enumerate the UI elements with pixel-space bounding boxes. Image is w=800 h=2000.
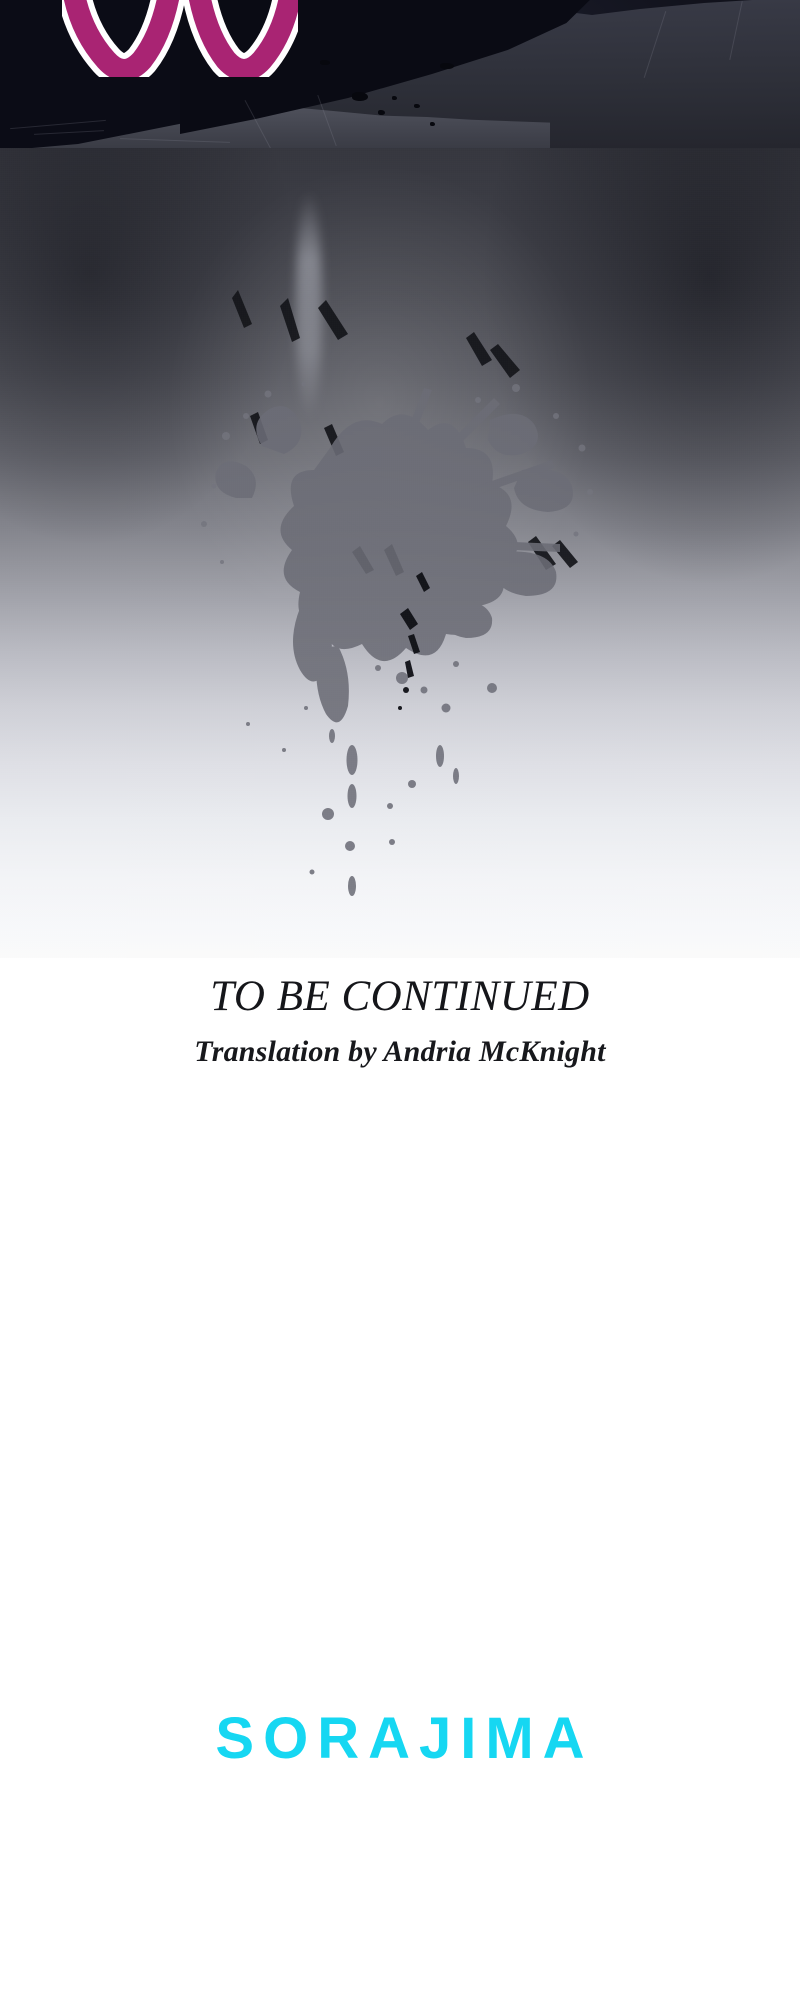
rock-fleck <box>352 92 368 101</box>
publisher-logo-area: SORAJIMA <box>0 1710 800 1768</box>
top-dark-panel <box>0 0 800 150</box>
rock-fleck <box>392 96 397 100</box>
ink-splatter <box>0 148 800 958</box>
translation-credit-text: Translation by Andria McKnight <box>0 1037 800 1067</box>
rock-fleck <box>440 63 454 69</box>
rock-fleck <box>320 60 330 65</box>
sorajima-logo[interactable]: SORAJIMA <box>206 1710 593 1768</box>
sfx-letter-w-glyph <box>62 0 298 77</box>
bottom-white-space <box>0 1820 800 2000</box>
webtoon-page: TO BE CONTINUED Translation by Andria Mc… <box>0 0 800 2000</box>
rock-fleck <box>430 122 435 126</box>
to-be-continued-text: TO BE CONTINUED <box>0 975 800 1018</box>
end-credits-block: TO BE CONTINUED Translation by Andria Mc… <box>0 975 800 1067</box>
gradient-splatter-panel <box>0 148 800 958</box>
rock-fleck <box>378 110 385 115</box>
rock-fleck <box>414 104 420 108</box>
